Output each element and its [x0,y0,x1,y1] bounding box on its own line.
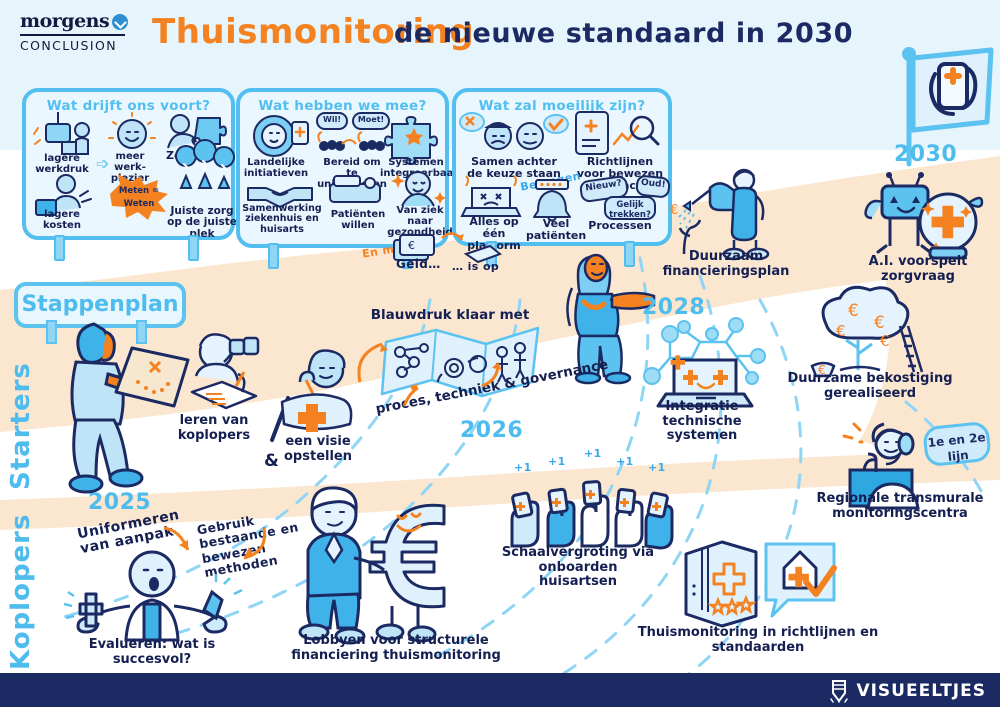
svg-text:€: € [670,203,678,218]
stappenplan-label: Stappenplan [18,292,182,317]
patient-bed-icon [326,174,388,208]
brand-logo: morgens CONCLUSION [20,10,128,53]
caption-lobbyen: Lobbyen voor structurele financiering th… [276,634,516,663]
panel-enablers-item-4: Patiënten willen [325,210,391,232]
panel-challenges-item-4: Processen [585,220,655,232]
footer-logo: VISUEELTJES [829,679,986,703]
euro-character-icon [294,486,504,642]
panel-leg [54,235,65,261]
counter-plus1-0: +1 [514,462,532,474]
sign-leg [46,320,57,344]
puzzle-icon [388,114,444,158]
counter-plus1-4: +1 [648,462,666,474]
footer-brand-text: VISUEELTJES [856,681,986,701]
svg-text:€: € [836,322,846,340]
counter-plus1-2: +1 [584,448,602,460]
lane-label-starters: Starters [6,360,36,490]
smiling-person-icon [392,170,446,208]
caption-leren-van-koplopers: leren van koplopers [149,414,279,443]
pencil-icon [829,679,849,703]
panel-drivers-item-3: lagere kosten [30,210,94,232]
counter-plus1-3: +1 [616,456,634,468]
happy-face-icon [108,112,156,154]
arrow-down-right-icon [162,524,212,564]
lane-label-koplopers: Koplopers [6,525,36,670]
arrow-curve-right-icon [478,352,520,392]
caption-richtlijnen: Thuismonitoring in richtlijnen en standa… [633,626,883,655]
arrow-down-left-icon [212,524,272,568]
year-2030: 2030 [894,142,957,167]
svg-text:€: € [848,301,859,321]
caption-schaalvergroting: Schaalvergroting via onboarden huisartse… [498,546,658,590]
footer-bar: VISUEELTJES [0,673,1000,707]
panel-drivers-item-5: Juiste zorg op de juiste plek [163,206,241,240]
logo-sub-text: CONCLUSION [20,38,128,53]
badge-lijn: 1e en 2e lijn [922,421,992,468]
infographic-poster: morgens CONCLUSION Thuismonitoring de ni… [0,0,1000,707]
svg-text:€: € [880,332,890,350]
money-tree-icon: € € € € € [796,292,936,382]
counter-plus1-1: +1 [548,456,566,468]
arrow-up-icon [396,380,426,410]
panel-drivers-item-4: Meten = Weten [111,185,167,211]
money-right-label: … is op [452,261,499,273]
guideline-book-icon [678,538,848,622]
panel-challenges: Wat zal moeilijk zijn? Samen achter de k… [452,88,672,246]
panel-drivers: Wat drijft ons voort? lagere werkdruk ➩ … [22,88,235,240]
annotation-gelijk-trekken: Gelijk trekken? [604,196,656,220]
caption-een-visie-opstellen: een visie opstellen [263,435,373,464]
logo-divider [20,34,125,36]
panel-leg [268,243,279,269]
map-pins-icon [176,158,234,206]
logo-brand-text: morgens [20,10,109,32]
caption-integratie: Integratie technische systemen [642,400,762,444]
bell-icon [528,180,584,222]
svg-text:€: € [874,313,885,333]
money-left-label: Geld… [396,258,441,271]
panel-enablers-item-3: Samenwerking ziekenhuis en huisarts [241,204,323,235]
caption-ai-voorspelt: A.I. voorspelt zorgvraag [853,255,983,284]
watering-can-plant-icon: € [672,170,792,260]
lion-icon [246,112,310,160]
caption-evalueren: Evalueren: wat is succesvol? [52,638,252,667]
panel-leg [188,235,199,261]
caption-duurzame-bekostiging: Duurzame bekostiging gerealiseerd [785,372,955,401]
caption-blauwdruk-top: Blauwdruk klaar met [350,308,550,323]
caterpillars-icon [314,128,392,158]
arrow-curve-left-icon [352,330,392,390]
caption-regionale-centra: Regionale transmurale monitoringscentra [800,492,1000,521]
year-2026: 2026 [460,418,523,443]
logo-mark-icon [112,14,128,30]
document-magnifier-icon [574,110,662,158]
page-title-rest: de nieuwe standaard in 2030 [394,18,853,49]
annotation-oud: Oud! [635,174,671,198]
svg-text:€: € [408,239,415,252]
connector-ampersand: & [264,452,279,470]
panel-challenges-item-3: Veel patiënten [526,218,586,242]
caption-duurzaam-financieringsplan: Duurzaam financieringsplan [661,250,791,279]
panel-enablers: Wat hebben we mee? Landelijke initiatiev… [236,88,449,248]
